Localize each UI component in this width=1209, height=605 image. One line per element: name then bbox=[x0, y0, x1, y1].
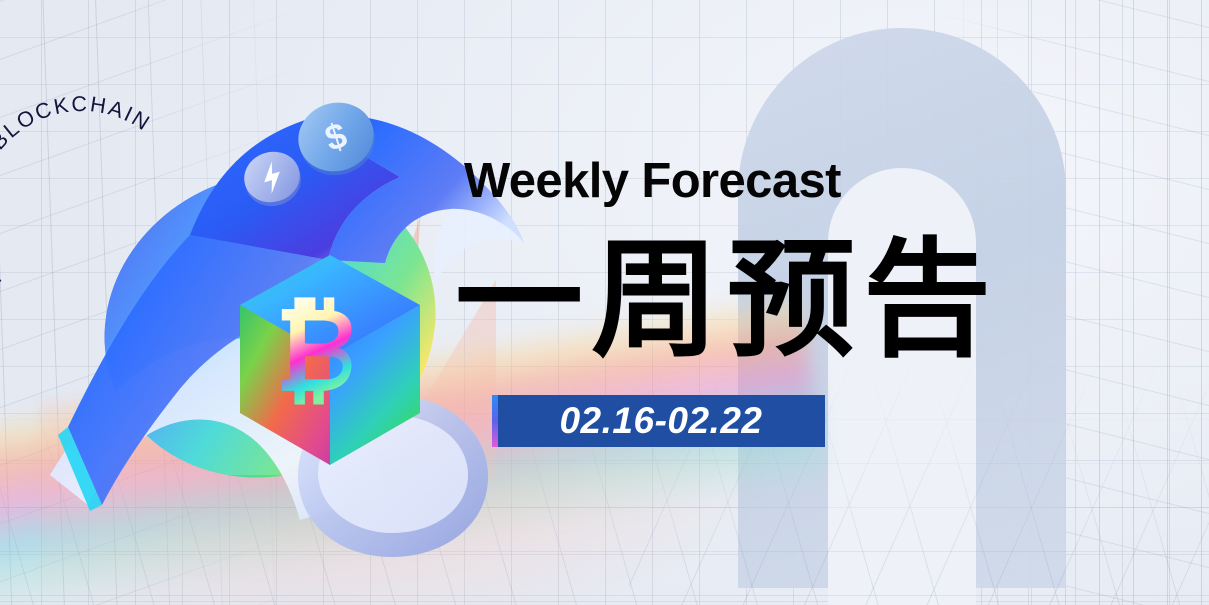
weekly-forecast-banner: $ FINTECH & BLOCKCHAIN Weekly Forecast 一… bbox=[0, 0, 1209, 605]
circular-badge-text: FINTECH & BLOCKCHAIN bbox=[0, 92, 212, 322]
headline-chinese: 一周预告 bbox=[455, 232, 999, 370]
circular-badge-label: FINTECH & BLOCKCHAIN bbox=[0, 92, 155, 293]
headline-english: Weekly Forecast bbox=[464, 157, 841, 206]
background-grid-floor-right bbox=[629, 345, 1209, 605]
date-range-badge: 02.16-02.22 bbox=[497, 395, 825, 447]
date-range-label: 02.16-02.22 bbox=[559, 400, 762, 442]
